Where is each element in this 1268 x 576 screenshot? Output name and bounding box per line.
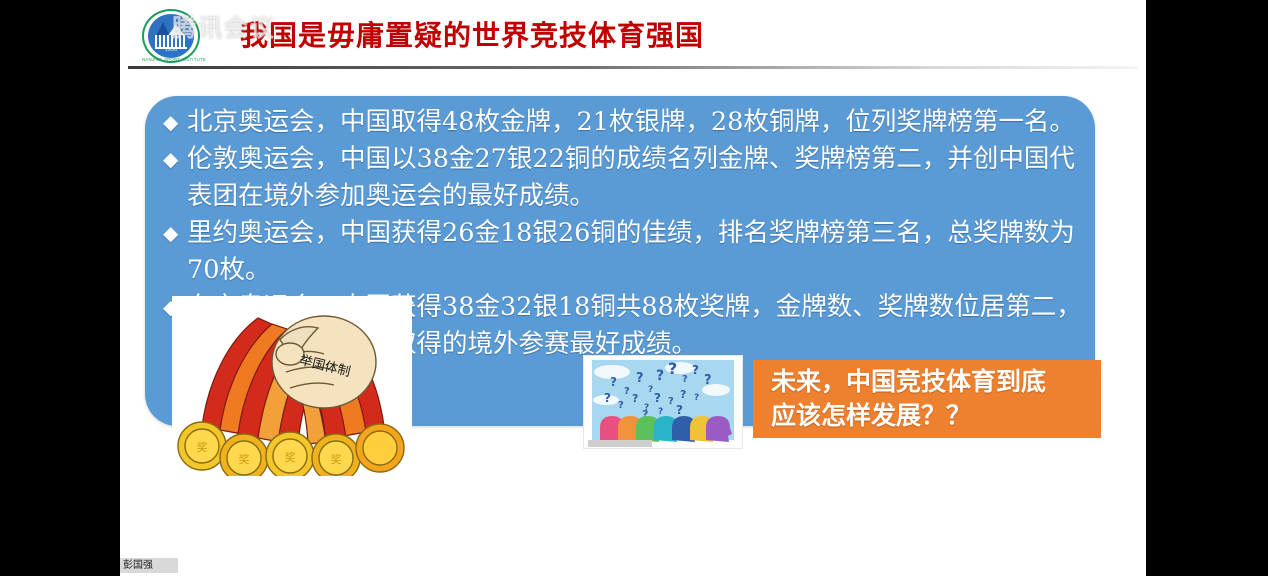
svg-text:?: ? bbox=[632, 392, 638, 405]
svg-text:?: ? bbox=[680, 388, 686, 401]
bullet-marker-icon: ◆ bbox=[163, 104, 187, 141]
svg-text:?: ? bbox=[682, 374, 688, 385]
svg-text:?: ? bbox=[692, 363, 699, 377]
medals-illustration: 举国体制 奖 奖 奖 奖 bbox=[172, 296, 412, 476]
logo-year: 1956 bbox=[148, 47, 194, 53]
illustration-footer-bar bbox=[588, 440, 652, 447]
list-item-text: 里约奥运会，中国获得26金18银26铜的佳绩，排名奖牌榜第三名，总奖牌数为70枚… bbox=[187, 215, 1085, 289]
svg-text:?: ? bbox=[694, 393, 699, 403]
question-line-1: 未来，中国竞技体育到底 bbox=[771, 365, 1046, 399]
presenter-name-tag: 彭国强 bbox=[120, 558, 178, 573]
svg-text:?: ? bbox=[654, 391, 661, 405]
question-callout-text: 未来，中国竞技体育到底 应该怎样发展？？ bbox=[771, 365, 1046, 433]
svg-text:?: ? bbox=[668, 359, 677, 378]
header-divider bbox=[128, 66, 1138, 69]
svg-text:?: ? bbox=[648, 385, 653, 395]
page-title: 我国是毋庸置疑的世界竞技体育强国 bbox=[240, 14, 704, 54]
svg-text:?: ? bbox=[658, 407, 663, 417]
presentation-slide: 1956 NANJING SPORT INSTITUTE 我国是毋庸置疑的世界竞… bbox=[120, 0, 1146, 576]
svg-text:奖: 奖 bbox=[197, 440, 208, 454]
logo-inner-disc: 1956 bbox=[148, 14, 194, 58]
list-item: ◆ 里约奥运会，中国获得26金18银26铜的佳绩，排名奖牌榜第三名，总奖牌数为7… bbox=[163, 215, 1085, 289]
list-item: ◆ 北京奥运会，中国取得48枚金牌，21枚银牌，28枚铜牌，位列奖牌榜第一名。 bbox=[163, 104, 1085, 141]
list-item: ◆ 伦敦奥运会，中国以38金27银22铜的成绩名列金牌、奖牌榜第二，并创中国代表… bbox=[163, 141, 1085, 215]
question-callout: 未来，中国竞技体育到底 应该怎样发展？？ bbox=[753, 360, 1101, 438]
bullet-marker-icon: ◆ bbox=[163, 141, 187, 178]
svg-text:奖: 奖 bbox=[285, 450, 296, 464]
svg-text:?: ? bbox=[676, 403, 683, 417]
svg-text:奖: 奖 bbox=[331, 452, 342, 466]
svg-text:?: ? bbox=[604, 391, 611, 405]
svg-text:?: ? bbox=[704, 373, 712, 388]
svg-text:?: ? bbox=[656, 368, 664, 384]
svg-text:?: ? bbox=[610, 375, 617, 389]
svg-text:?: ? bbox=[668, 396, 674, 407]
svg-text:奖: 奖 bbox=[239, 452, 250, 466]
list-item-text: 北京奥运会，中国取得48枚金牌，21枚银牌，28枚铜牌，位列奖牌榜第一名。 bbox=[187, 104, 1085, 141]
nanjing-sport-institute-logo-icon: 1956 NANJING SPORT INSTITUTE bbox=[142, 9, 200, 63]
logo-mountain-icon bbox=[154, 20, 188, 36]
question-marks-heads-graphic: ? ? ? ? ? ? ? ? ? ? ? ? ? ? ? ? ? bbox=[584, 356, 742, 448]
svg-text:?: ? bbox=[618, 400, 624, 411]
screen: 1956 NANJING SPORT INSTITUTE 我国是毋庸置疑的世界竞… bbox=[0, 0, 1268, 576]
slide-header: 1956 NANJING SPORT INSTITUTE 我国是毋庸置疑的世界竞… bbox=[120, 0, 1146, 70]
thinking-heads-illustration: ? ? ? ? ? ? ? ? ? ? ? ? ? ? ? ? ? bbox=[583, 355, 743, 449]
logo-arc-text: NANJING SPORT INSTITUTE bbox=[142, 57, 200, 62]
list-item-text: 伦敦奥运会，中国以38金27银22铜的成绩名列金牌、奖牌榜第二，并创中国代表团在… bbox=[187, 141, 1085, 215]
svg-text:?: ? bbox=[636, 371, 644, 386]
question-line-2: 应该怎样发展？？ bbox=[771, 399, 1046, 433]
bullet-marker-icon: ◆ bbox=[163, 215, 187, 252]
svg-text:?: ? bbox=[624, 386, 630, 397]
fist-with-medals-graphic: 举国体制 奖 奖 奖 奖 bbox=[172, 296, 412, 476]
